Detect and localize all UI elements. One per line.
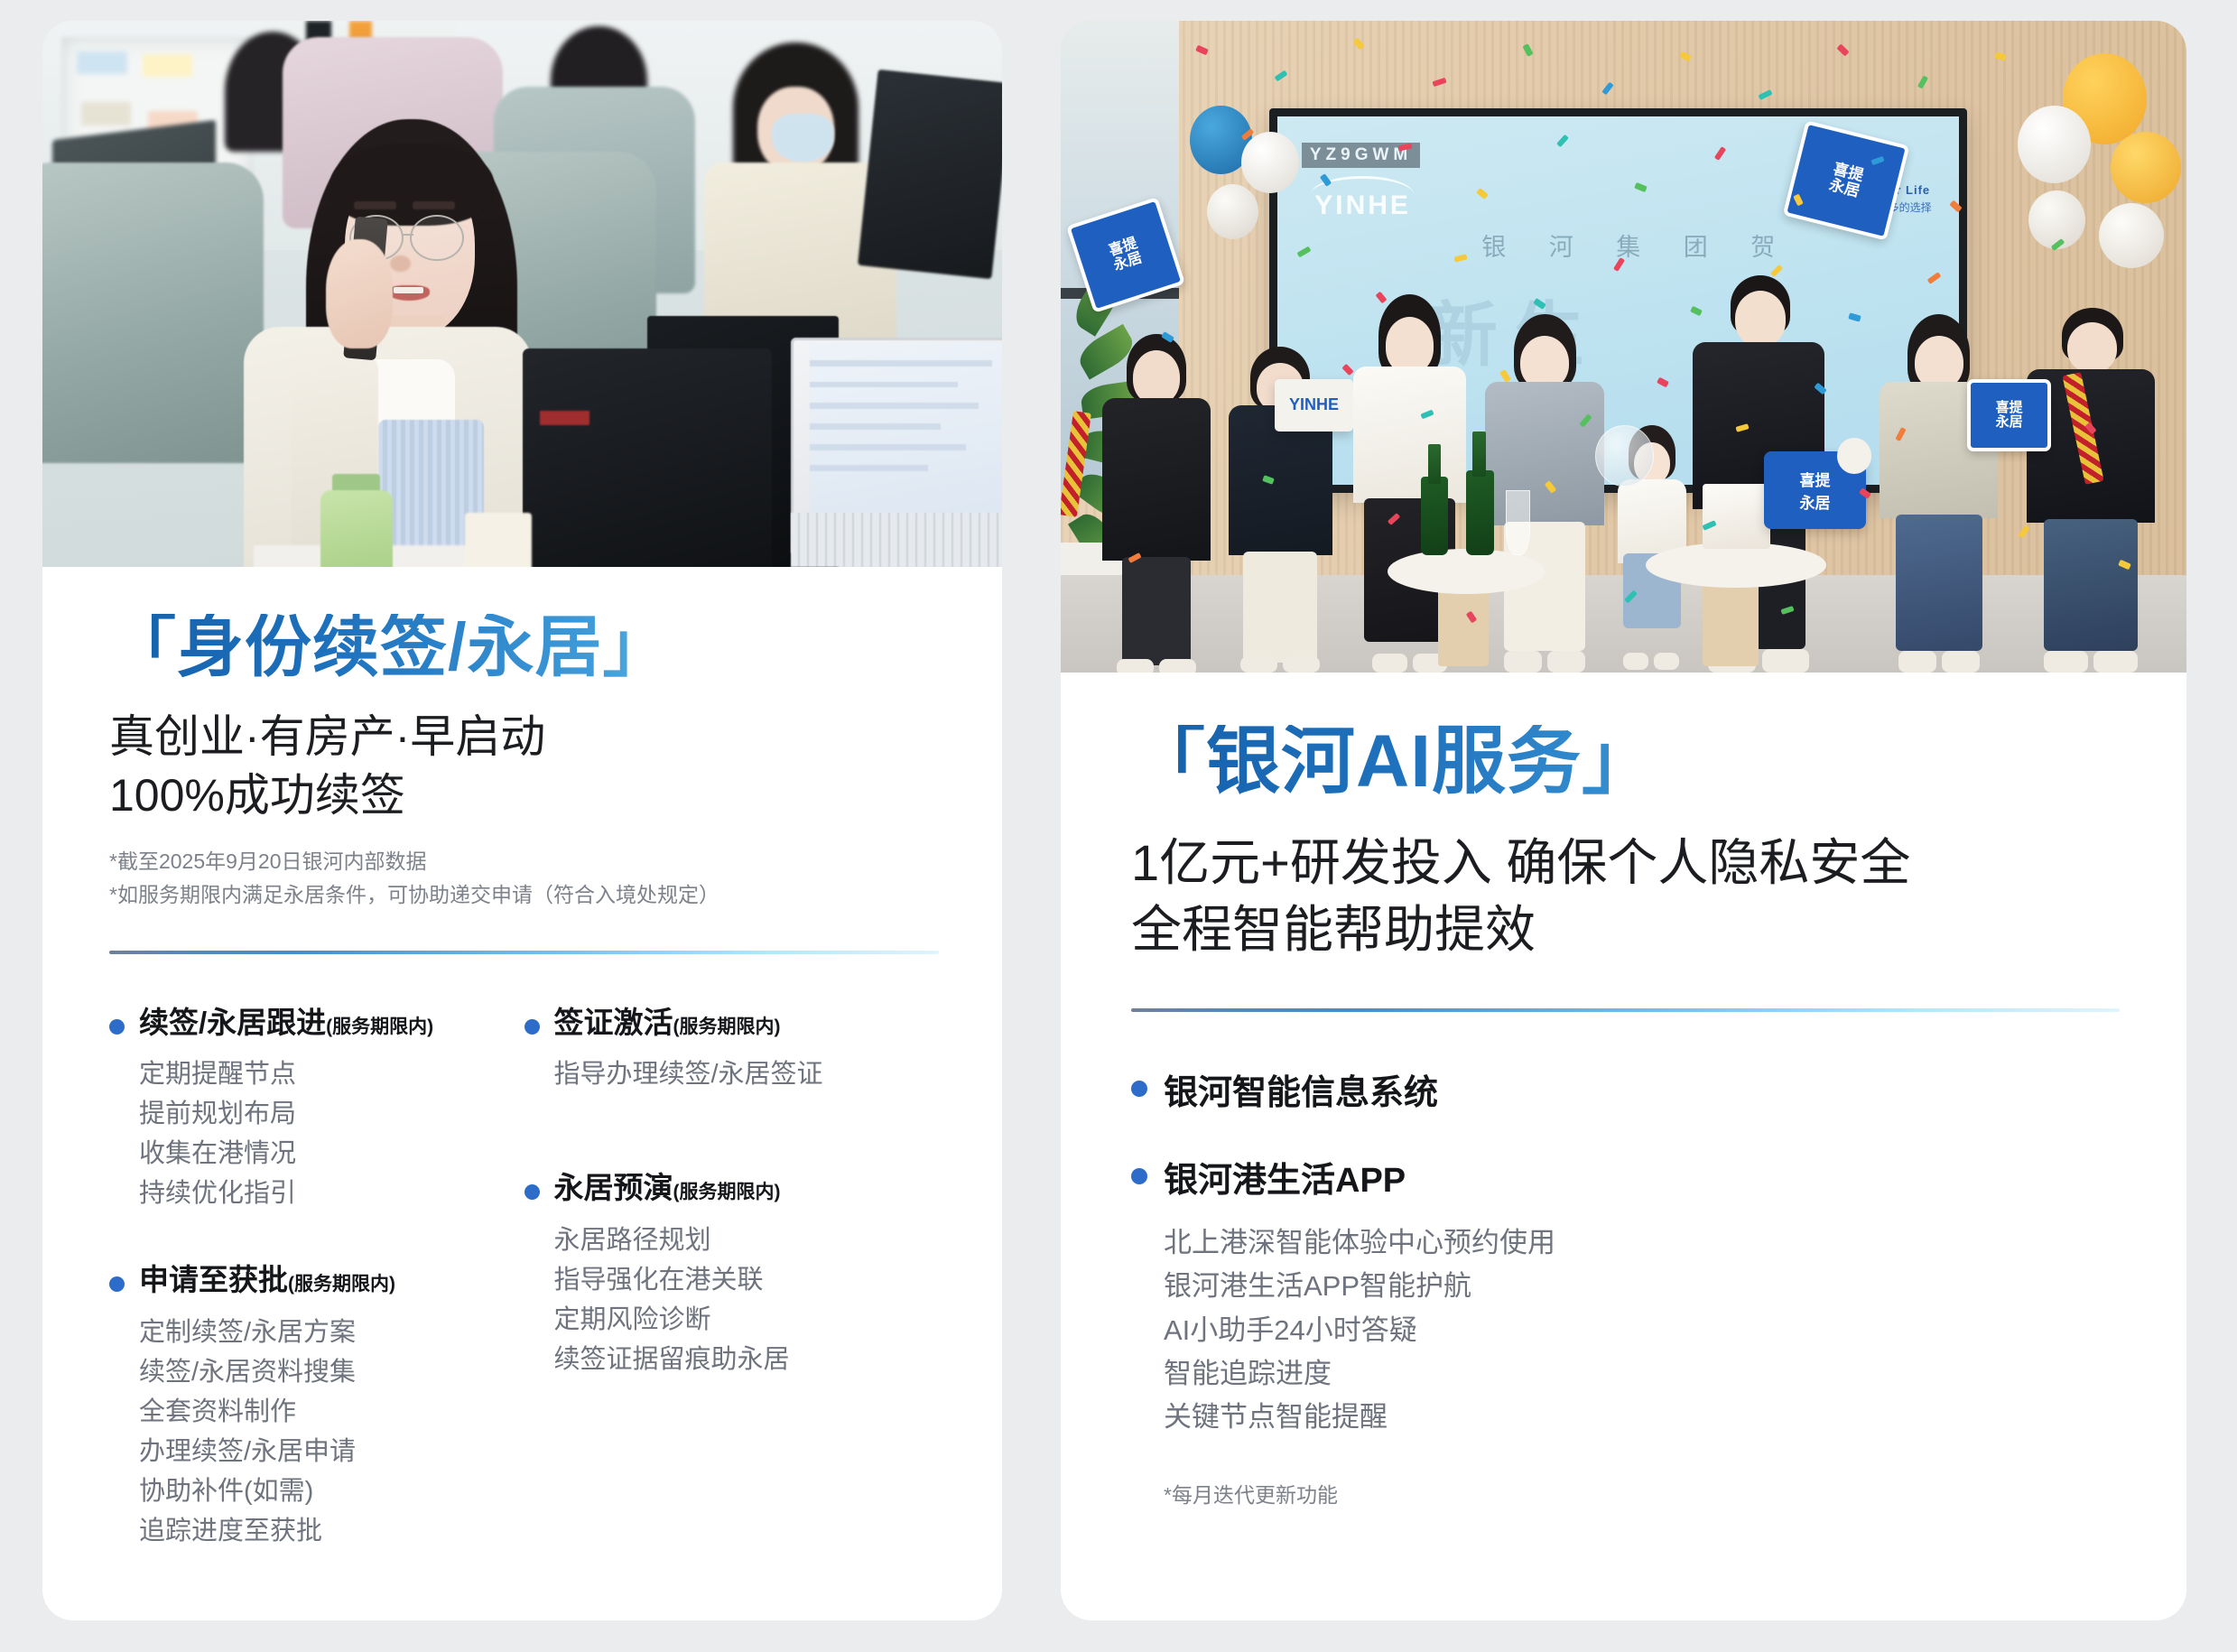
left-subtitle-line-1: 真创业·有房产·早启动 [109,708,939,766]
list-item: 永居路径规划 [554,1220,940,1260]
celebration-scene: YZ9GWM YINHE 银 河 集 团 贺 新生 Go For A Bette… [1061,21,2186,673]
service-item-list: 北上港深智能体验中心预约使用 银河港生活APP智能护航 AI小助手24小时答疑 … [1131,1221,2120,1440]
champagne-neck [1472,432,1486,478]
service-group: 申请至获批(服务期限内) 定制续签/永居方案 续签/永居资料搜集 全套资料制作 … [109,1262,524,1551]
bullet-dot-icon [109,1019,125,1035]
list-item: 指导强化在港关联 [554,1260,940,1300]
service-group-title: 银河港生活APP [1131,1152,2120,1202]
champagne-bottle [1466,470,1494,555]
right-service-list: 银河智能信息系统 银河港生活APP 北上港深智能体验中心预约使用 银河港生活AP… [1131,1064,2120,1508]
bullet-dot-icon [524,1184,540,1200]
page-title-left: 「身份续签/永居」 [109,614,939,681]
service-group-name: 银河智能信息系统 [1164,1064,1438,1114]
left-column-1: 续签/永居跟进(服务期限内) 定期提醒节点 提前规划布局 收集在港情况 持续优化… [109,1005,524,1552]
colleague-laptop [858,69,1002,278]
service-item-list: 永居路径规划 指导强化在港关联 定期风险诊断 续签证据留痕助永居 [524,1220,940,1379]
woman-hand [326,239,393,348]
celebration-confetti-photo: YZ9GWM YINHE 银 河 集 团 贺 新生 Go For A Bette… [1061,21,2186,673]
service-group: 续签/永居跟进(服务期限内) 定期提醒节点 提前规划布局 收集在港情况 持续优化… [109,1005,524,1214]
balloon [2028,190,2084,249]
woman-eyebrow [413,201,455,210]
service-item-list: 指导办理续签/永居签证 [524,1054,940,1094]
left-card-body: 「身份续签/永居」 真创业·有房产·早启动 100%成功续签 *截至2025年9… [42,567,1002,1551]
list-item: 续签/永居资料搜集 [139,1352,524,1392]
balloon [1207,184,1258,239]
page-root: 「身份续签/永居」 真创业·有房产·早启动 100%成功续签 *截至2025年9… [0,0,2237,1652]
thinkpad-laptop [523,348,772,567]
right-laptop-screen [810,343,1002,518]
card-identity-renewal: 「身份续签/永居」 真创业·有房产·早启动 100%成功续签 *截至2025年9… [42,21,1002,1620]
cocktail-table [1388,549,1545,595]
list-item: 关键节点智能提醒 [1164,1396,2120,1439]
balloon [2018,106,2091,184]
table-leg [1703,575,1759,666]
right-subtitle-line-2: 全程智能帮助提效 [1131,896,2120,963]
service-group-title: 申请至获批(服务期限内) [109,1262,524,1298]
right-footnote: *每月迭代更新功能 [1131,1478,2120,1508]
list-item: 银河港生活APP智能护航 [1164,1265,2120,1308]
list-item: 指导办理续签/永居签证 [554,1054,940,1094]
left-subtitle: 真创业·有房产·早启动 100%成功续签 [109,708,939,825]
balloon [2111,132,2180,203]
bullet-dot-icon [1131,1081,1147,1097]
champagne-bottle [1421,477,1448,555]
sticky-note [77,51,126,74]
service-group-name: 申请至获批 [139,1263,288,1296]
right-subtitle: 1亿元+研发投入 确保个人隐私安全 全程智能帮助提效 [1131,830,2120,963]
list-item: 办理续签/永居申请 [139,1432,524,1471]
glasses-icon [410,215,464,261]
sticky-note [81,102,131,125]
face-mask-icon [772,114,834,162]
balloon [1241,132,1300,194]
list-item: 全套资料制作 [139,1392,524,1432]
left-footnote-1: *截至2025年9月20日银河内部数据 [109,845,939,878]
office-chair [42,162,264,463]
list-item: 续签证据留痕助永居 [554,1340,940,1379]
service-group-name: 续签/永居跟进 [139,1006,326,1039]
list-item: 收集在港情况 [139,1134,524,1174]
champagne-glass [1506,490,1530,555]
list-item: 定期提醒节点 [139,1054,524,1094]
balloon [2099,203,2164,268]
list-item: 智能追踪进度 [1164,1352,2120,1396]
card-ai-service: YZ9GWM YINHE 银 河 集 团 贺 新生 Go For A Bette… [1061,21,2186,1620]
service-group-note: (服务期限内) [673,1182,781,1202]
person [1871,314,2007,673]
screen-brand-logo: YINHE [1314,190,1411,221]
office-scene [42,21,1002,567]
service-group: 永居预演(服务期限内) 永居路径规划 指导强化在港关联 定期风险诊断 续签证据留… [524,1170,940,1379]
balloon [1595,425,1654,487]
woman-teeth [394,287,423,293]
left-service-columns: 续签/永居跟进(服务期限内) 定期提醒节点 提前规划布局 收集在港情况 持续优化… [109,1005,939,1552]
person [1094,334,1218,673]
left-footnote-2: *如服务期限内满足永居条件，可协助递交申请（符合入境处规定） [109,878,939,912]
list-item: 定制续签/永居方案 [139,1313,524,1352]
service-group-note: (服务期限内) [326,1016,433,1037]
list-item: 北上港深智能体验中心预约使用 [1164,1221,2120,1265]
service-group-name: 永居预演 [554,1171,673,1204]
bullet-dot-icon [524,1019,540,1035]
woman-eyebrow [354,201,396,210]
screen-headline: 银 河 集 团 贺 [1481,227,1793,263]
service-item-list: 定制续签/永居方案 续签/永居资料搜集 全套资料制作 办理续签/永居申请 协助补… [109,1313,524,1551]
service-group-note: (服务期限内) [673,1016,781,1037]
list-item: AI小助手24小时答疑 [1164,1309,2120,1352]
celebration-cake [1703,484,1770,549]
bullet-dot-icon [109,1276,125,1292]
service-group: 银河智能信息系统 [1131,1064,2120,1114]
cake-table [1646,543,1826,589]
bullet-dot-icon [1131,1168,1147,1184]
list-item: 定期风险诊断 [554,1300,940,1340]
service-group-note: (服务期限内) [288,1274,395,1295]
right-laptop-keyboard [791,513,1002,568]
desk-cup [465,513,532,568]
service-group: 签证激活(服务期限内) 指导办理续签/永居签证 [524,1005,940,1095]
page-title-right: 「银河AI服务」 [1131,725,2120,799]
divider-right [1131,1008,2120,1012]
glasses-bridge [402,234,414,236]
water-bottle [320,490,393,567]
service-group-title: 银河智能信息系统 [1131,1064,2120,1114]
person [2018,308,2164,673]
left-column-2: 签证激活(服务期限内) 指导办理续签/永居签证 永居预演(服务期限内) 永居路径… [524,1005,940,1552]
list-item: 追踪进度至获批 [139,1511,524,1551]
champagne-neck [1428,444,1442,483]
service-group-title: 续签/永居跟进(服务期限内) [109,1005,524,1041]
service-group: 银河港生活APP 北上港深智能体验中心预约使用 银河港生活APP智能护航 AI小… [1131,1152,2120,1440]
left-footnotes: *截至2025年9月20日银河内部数据 *如服务期限内满足永居条件，可协助递交申… [109,845,939,913]
woman-bangs [330,144,494,226]
sticky-note [143,54,192,77]
office-phone-call-photo [42,21,1002,567]
flower-decoration-icon [1837,438,1870,474]
service-group-title: 签证激活(服务期限内) [524,1005,940,1041]
list-item: 协助补件(如需) [139,1471,524,1511]
divider-left [109,951,939,954]
right-subtitle-line-1: 1亿元+研发投入 确保个人隐私安全 [1131,830,2120,896]
list-item: 提前规划布局 [139,1094,524,1134]
right-card-body: 「银河AI服务」 1亿元+研发投入 确保个人隐私安全 全程智能帮助提效 银河智能… [1061,673,2186,1508]
service-group-name: 银河港生活APP [1164,1152,1406,1202]
service-item-list: 定期提醒节点 提前规划布局 收集在港情况 持续优化指引 [109,1054,524,1213]
list-item: 持续优化指引 [139,1174,524,1213]
left-subtitle-line-2: 100%成功续签 [109,766,939,825]
service-group-title: 永居预演(服务期限内) [524,1170,940,1206]
handheld-sign: 喜提永居 [1967,379,2052,450]
person [1477,314,1612,673]
service-group-name: 签证激活 [554,1006,673,1039]
